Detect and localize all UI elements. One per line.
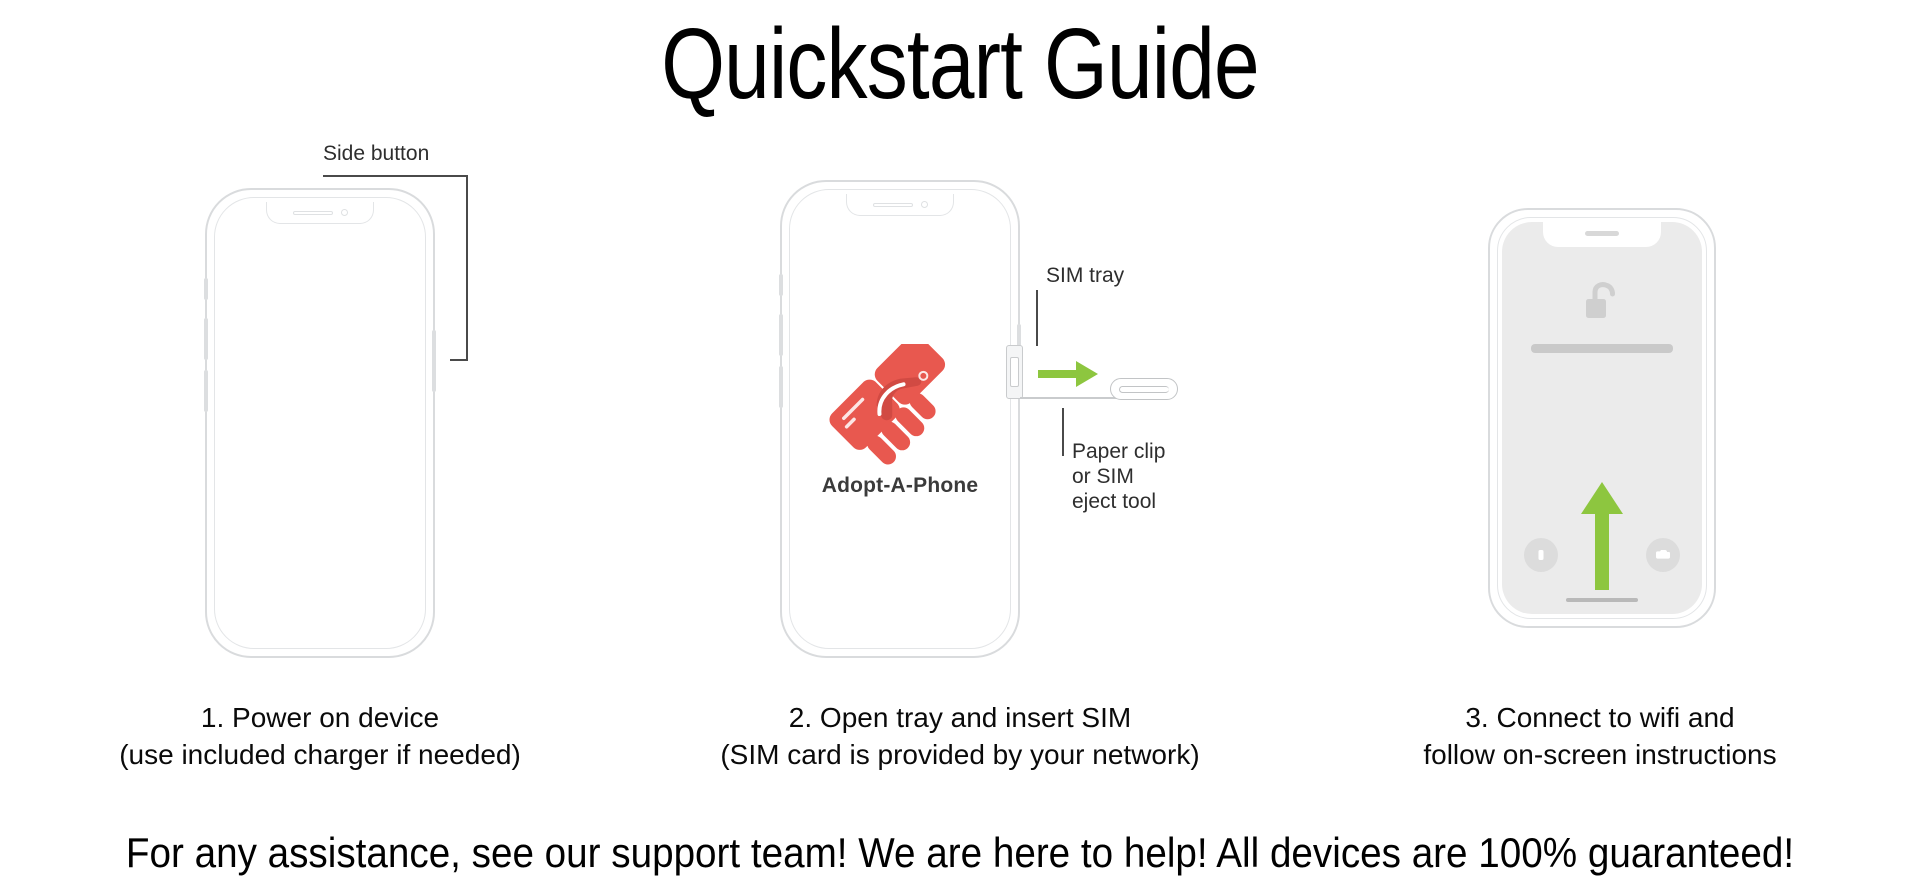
silent-switch[interactable] bbox=[779, 274, 783, 296]
earpiece-speaker-icon bbox=[293, 211, 333, 215]
front-camera-icon bbox=[341, 209, 348, 216]
page-title: Quickstart Guide bbox=[173, 14, 1747, 114]
camera-button[interactable] bbox=[1646, 538, 1680, 572]
step-1-caption: 1. Power on device (use included charger… bbox=[10, 700, 630, 774]
step-2: Adopt-A-Phone SIM t bbox=[650, 140, 1270, 780]
phone-device-1 bbox=[205, 188, 435, 658]
handshake-heart-icon bbox=[825, 344, 975, 466]
step-1: Side button bbox=[10, 140, 630, 780]
sim-tray-label: SIM tray bbox=[1046, 264, 1124, 289]
adopt-a-phone-logo: Adopt-A-Phone bbox=[805, 344, 995, 498]
step-2-caption-line2: (SIM card is provided by your network) bbox=[650, 737, 1270, 774]
sim-eject-tool-inner bbox=[1119, 386, 1169, 393]
flashlight-icon bbox=[1534, 548, 1548, 562]
support-footer-text: For any assistance, see our support team… bbox=[77, 830, 1843, 876]
step-3: 3. Connect to wifi and follow on-screen … bbox=[1290, 140, 1910, 780]
notch bbox=[266, 202, 374, 224]
side-button-label: Side button bbox=[323, 142, 429, 167]
volume-up-button[interactable] bbox=[779, 314, 783, 356]
sim-tray-leader bbox=[1036, 290, 1038, 346]
logo-wordmark: Adopt-A-Phone bbox=[805, 474, 995, 498]
step-2-illustration: Adopt-A-Phone SIM t bbox=[650, 140, 1270, 680]
step-2-caption-line1: 2. Open tray and insert SIM bbox=[789, 702, 1131, 733]
phone-1-bezel bbox=[214, 197, 426, 649]
notch bbox=[846, 194, 954, 216]
volume-down-button[interactable] bbox=[204, 370, 208, 412]
phone-3-screen bbox=[1502, 222, 1702, 614]
phone-device-2: Adopt-A-Phone bbox=[780, 180, 1020, 658]
phone-2-screen: Adopt-A-Phone bbox=[794, 194, 1006, 644]
front-camera-icon bbox=[921, 201, 928, 208]
side-button[interactable] bbox=[432, 330, 436, 392]
step-1-caption-line2: (use included charger if needed) bbox=[10, 737, 630, 774]
phone-device-3 bbox=[1488, 208, 1716, 628]
side-button-leader-vertical bbox=[466, 175, 468, 360]
side-button-leader-horizontal bbox=[323, 175, 468, 177]
step-2-caption: 2. Open tray and insert SIM (SIM card is… bbox=[650, 700, 1270, 774]
eject-tool-label: Paper clip or SIM eject tool bbox=[1072, 440, 1165, 514]
passcode-placeholder-bar bbox=[1531, 344, 1673, 353]
step-3-caption: 3. Connect to wifi and follow on-screen … bbox=[1290, 700, 1910, 774]
step-3-caption-line2: follow on-screen instructions bbox=[1290, 737, 1910, 774]
phone-1-screen bbox=[219, 202, 421, 644]
sim-eject-tool[interactable] bbox=[1110, 378, 1178, 400]
eject-tool-leader bbox=[1062, 408, 1064, 456]
sim-tray-assembly bbox=[1006, 345, 1256, 435]
side-button-leader-tip bbox=[450, 359, 468, 361]
silent-switch[interactable] bbox=[204, 278, 208, 300]
earpiece-speaker-icon bbox=[1585, 231, 1619, 236]
step-3-caption-line1: 3. Connect to wifi and bbox=[1465, 702, 1734, 733]
step-1-caption-line1: 1. Power on device bbox=[201, 702, 439, 733]
insert-direction-arrow-icon bbox=[1038, 359, 1100, 389]
phone-2-bezel: Adopt-A-Phone bbox=[789, 189, 1011, 649]
phone-3-bezel bbox=[1497, 217, 1707, 619]
sim-tray-slot bbox=[1010, 357, 1019, 387]
volume-down-button[interactable] bbox=[779, 366, 783, 408]
flashlight-button[interactable] bbox=[1524, 538, 1558, 572]
step-1-illustration: Side button bbox=[10, 140, 630, 680]
camera-icon bbox=[1655, 548, 1671, 562]
sim-tray[interactable] bbox=[1006, 345, 1023, 399]
home-indicator bbox=[1566, 598, 1638, 602]
earpiece-speaker-icon bbox=[873, 203, 913, 207]
unlocked-padlock-icon bbox=[1579, 280, 1625, 326]
step-3-illustration bbox=[1290, 140, 1910, 680]
swipe-up-arrow-icon bbox=[1578, 478, 1626, 590]
steps-row: Side button bbox=[0, 140, 1920, 780]
volume-up-button[interactable] bbox=[204, 318, 208, 360]
